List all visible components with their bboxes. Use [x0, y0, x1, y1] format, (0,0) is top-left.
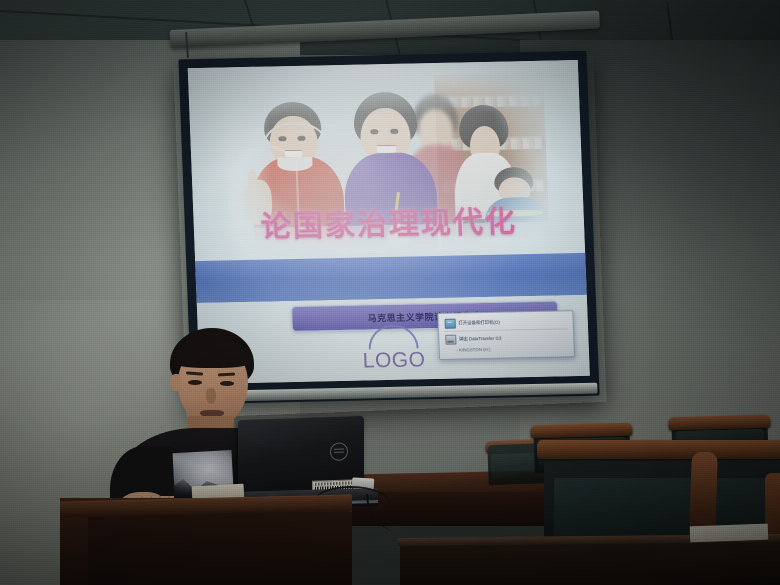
usb-popup-row-label: 打开设备和打印机(O) — [458, 319, 500, 326]
usb-eject-popup[interactable]: 打开设备和打印机(O) 弹出 DataTraveler G3 - KINGSTO… — [437, 310, 575, 360]
lecture-room: 论国家治理现代化 马克思主义学院读书报告会 LOGO 打开设备和打印机(O) — [0, 0, 780, 585]
podium-side-panel — [60, 506, 88, 585]
front-desk — [400, 540, 780, 585]
photo-scene: 论国家治理现代化 马克思主义学院读书报告会 LOGO 打开设备和打印机(O) — [0, 0, 780, 585]
paper-on-desk — [690, 524, 769, 543]
eject-icon — [444, 318, 455, 328]
logo-arc-icon — [368, 324, 419, 349]
slide-title: 论国家治理现代化 — [193, 195, 585, 247]
floor-cable — [366, 494, 488, 534]
usb-popup-row[interactable]: 打开设备和打印机(O) — [441, 314, 570, 330]
usb-popup-row[interactable]: - KINGSTON (H:) — [442, 343, 571, 355]
usb-drive-icon — [445, 334, 456, 344]
hp-logo-icon — [330, 442, 348, 461]
usb-popup-row-label: 弹出 DataTraveler G3 — [459, 335, 502, 342]
usb-popup-row-label: - KINGSTON (H:) — [456, 346, 490, 353]
podium-front-panel — [84, 512, 352, 585]
